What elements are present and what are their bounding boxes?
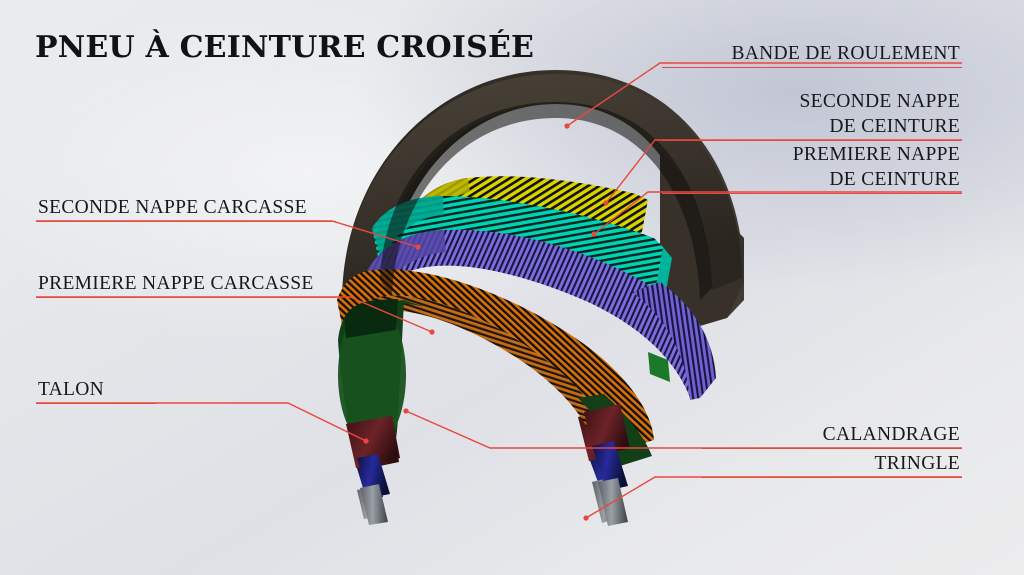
callout-rule-second-belt [662, 140, 962, 141]
diagram-canvas: PNEU À CEINTURE CROISÉE BANDE DE ROULEME… [0, 0, 1024, 575]
page-title: PNEU À CEINTURE CROISÉE [35, 30, 534, 65]
callout-premiere-nappe-ceinture: PREMIERE NAPPE DE CEINTURE [662, 143, 962, 194]
callout-rule-tread [662, 67, 962, 68]
callout-rule-bead-wire [702, 477, 962, 478]
callout-label-bead-wire: TRINGLE [702, 452, 962, 477]
callout-talon: TALON [36, 378, 156, 404]
callout-label-first-belt-line2: DE CEINTURE [662, 168, 962, 193]
callout-premiere-nappe-carcasse: PREMIERE NAPPE CARCASSE [36, 272, 336, 298]
callout-rule-first-belt [662, 193, 962, 194]
callout-seconde-nappe-ceinture: SECONDE NAPPE DE CEINTURE [662, 90, 962, 141]
callout-label-calendering: CALANDRAGE [702, 423, 962, 448]
callout-label-second-belt-line2: DE CEINTURE [662, 115, 962, 140]
callout-rule-bead [36, 403, 156, 404]
left-bead-foreground [346, 416, 400, 525]
callout-tringle: TRINGLE [702, 452, 962, 478]
callout-label-first-belt-line1: PREMIERE NAPPE [662, 143, 962, 168]
callout-seconde-nappe-carcasse: SECONDE NAPPE CARCASSE [36, 196, 336, 222]
callout-calandrage: CALANDRAGE [702, 423, 962, 449]
callout-label-first-ply: PREMIERE NAPPE CARCASSE [36, 272, 336, 297]
callout-rule-second-ply [36, 221, 336, 222]
callout-label-second-ply: SECONDE NAPPE CARCASSE [36, 196, 336, 221]
callout-bande-de-roulement: BANDE DE ROULEMENT [662, 42, 962, 68]
callout-rule-first-ply [36, 297, 336, 298]
callout-label-tread: BANDE DE ROULEMENT [662, 42, 962, 67]
callout-label-bead: TALON [36, 378, 156, 403]
callout-label-second-belt-line1: SECONDE NAPPE [662, 90, 962, 115]
callout-rule-calendering [702, 448, 962, 449]
